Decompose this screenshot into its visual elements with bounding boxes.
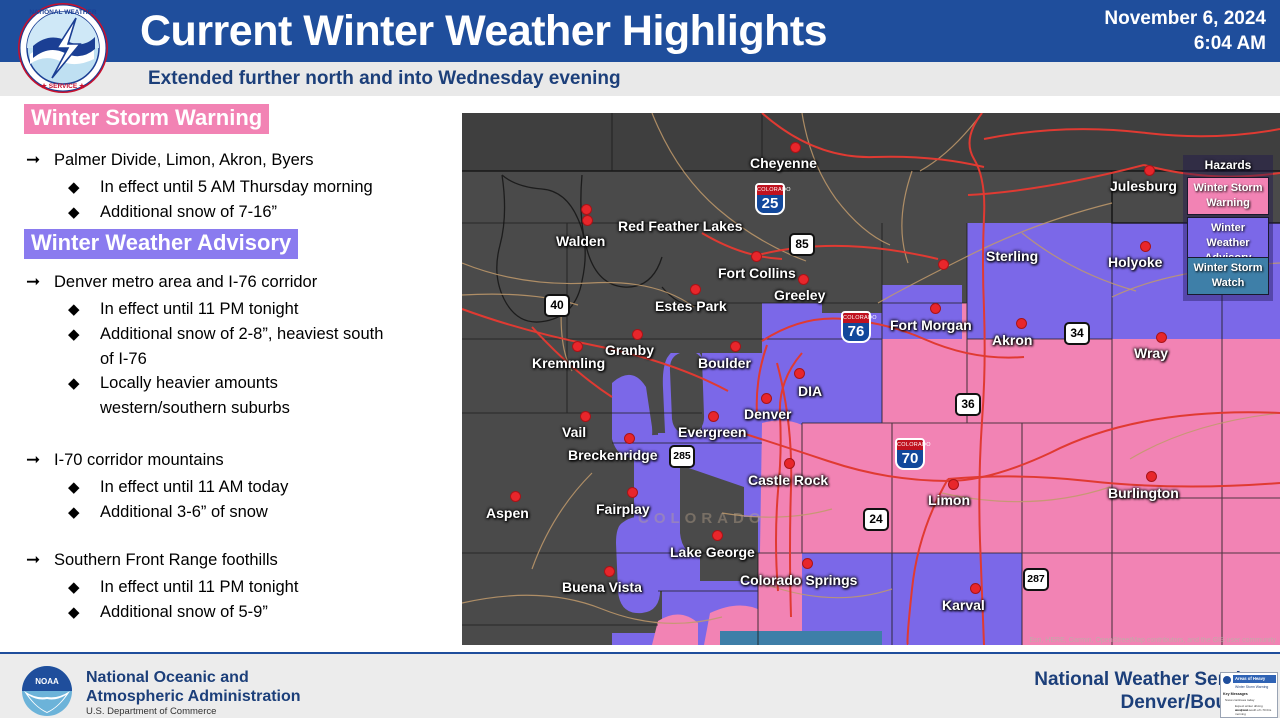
city-label: Greeley xyxy=(774,287,825,303)
detail-item: ◆ In effect until 11 AM today xyxy=(0,475,450,500)
city-label: Sterling xyxy=(986,248,1038,264)
city-label: Castle Rock xyxy=(748,472,828,488)
detail-text: Additional snow of 2-8”, heaviest south … xyxy=(100,325,383,368)
city-label: Buena Vista xyxy=(562,579,642,595)
shield-banner: COLORADO xyxy=(843,313,869,323)
nws-seal-icon: NATIONAL WEATHER ★ SERVICE ★ xyxy=(8,2,118,94)
header-time: 6:04 AM xyxy=(1104,31,1266,56)
city-label: Karval xyxy=(942,597,985,613)
city-label: Limon xyxy=(928,492,970,508)
detail-item: ◆ Additional snow of 2-8”, heaviest sout… xyxy=(0,322,386,372)
map-attribution: Esri, HERE, Garmin, OpenStreetMap contri… xyxy=(1029,637,1276,644)
city-dot xyxy=(582,215,593,226)
thumbnail-title: Areas of Heavy Snow xyxy=(1233,675,1276,683)
thumbnail-line: Snow continues today xyxy=(1225,698,1254,702)
diamond-bullet-icon: ◆ xyxy=(68,500,80,525)
subtitle-text: Extended further north and into Wednesda… xyxy=(148,62,621,96)
heading-winter-storm-warning: Winter Storm Warning xyxy=(24,104,269,134)
city-label: Fort Collins xyxy=(718,265,796,281)
thumbnail-subtitle: Winter Storm Warning xyxy=(1233,684,1276,690)
weather-briefing-slide: Current Winter Weather Highlights Novemb… xyxy=(0,0,1280,718)
area-label: Palmer Divide, Limon, Akron, Byers xyxy=(54,151,314,169)
shield-number: 25 xyxy=(757,195,783,213)
city-label: Walden xyxy=(556,233,605,249)
detail-text: In effect until 11 PM tonight xyxy=(100,578,298,596)
city-label: Breckenridge xyxy=(568,447,657,463)
city-dot xyxy=(627,487,638,498)
diamond-bullet-icon: ◆ xyxy=(68,175,80,200)
area-label: I-70 corridor mountains xyxy=(54,451,224,469)
header-date: November 6, 2024 xyxy=(1104,6,1266,31)
city-label: DIA xyxy=(798,383,822,399)
detail-text: In effect until 11 AM today xyxy=(100,478,288,496)
arrow-bullet-icon: ➞ xyxy=(26,449,40,470)
city-dot xyxy=(510,491,521,502)
arrow-bullet-icon: ➞ xyxy=(26,549,40,570)
thumbnail-line: morning xyxy=(1235,712,1246,716)
detail-text: Additional 3-6” of snow xyxy=(100,503,268,521)
hazard-map[interactable]: COLORADO Cheyenne Red Feather Lakes Wald… xyxy=(462,113,1280,645)
diamond-bullet-icon: ◆ xyxy=(68,297,80,322)
area-item: ➞ Southern Front Range foothills xyxy=(0,550,440,571)
legend-item-winter-storm-watch: Winter Storm Watch xyxy=(1187,257,1269,295)
us-287-shield: 287 xyxy=(1023,568,1049,591)
city-dot xyxy=(938,259,949,270)
city-label: Colorado Springs xyxy=(740,572,857,588)
subtitle-bar: Extended further north and into Wednesda… xyxy=(0,62,1280,96)
area-item: ➞ Denver metro area and I-76 corridor xyxy=(0,272,440,293)
city-label: Aspen xyxy=(486,505,529,521)
diamond-bullet-icon: ◆ xyxy=(68,200,80,225)
svg-text:NATIONAL WEATHER: NATIONAL WEATHER xyxy=(29,9,96,16)
city-label: Burlington xyxy=(1108,485,1179,501)
city-dot xyxy=(751,251,762,262)
city-dot xyxy=(581,204,592,215)
shield-number: 70 xyxy=(897,450,923,468)
city-label: Kremmling xyxy=(532,355,605,371)
area-item: ➞ I-70 corridor mountains xyxy=(0,450,440,471)
city-label: Fort Morgan xyxy=(890,317,972,333)
city-dot xyxy=(1144,165,1155,176)
city-dot xyxy=(948,479,959,490)
city-dot xyxy=(798,274,809,285)
city-dot xyxy=(970,583,981,594)
shield-number: 76 xyxy=(843,323,869,341)
us-34-shield: 34 xyxy=(1064,322,1090,345)
header-datetime: November 6, 2024 6:04 AM xyxy=(1104,6,1266,56)
city-label: Granby xyxy=(605,342,654,358)
city-label: Vail xyxy=(562,424,586,440)
svg-text:COLORADO: COLORADO xyxy=(638,510,766,527)
city-dot xyxy=(1016,318,1027,329)
detail-text: In effect until 11 PM tonight xyxy=(100,300,298,318)
city-dot xyxy=(1140,241,1151,252)
heading-winter-weather-advisory: Winter Weather Advisory xyxy=(24,229,298,259)
city-dot xyxy=(761,393,772,404)
interstate-76-shield: COLORADO 76 xyxy=(841,311,871,343)
interstate-25-shield: COLORADO 25 xyxy=(755,183,785,215)
detail-text: Additional snow of 5-9” xyxy=(100,603,268,621)
city-label: Evergreen xyxy=(678,424,746,440)
detail-item: ◆ Locally heavier amounts western/southe… xyxy=(0,371,400,421)
diamond-bullet-icon: ◆ xyxy=(68,600,80,625)
city-dot xyxy=(790,142,801,153)
map-legend: Hazards Winter Storm Warning Winter Weat… xyxy=(1183,155,1273,301)
city-label: Denver xyxy=(744,406,791,422)
detail-item: ◆ In effect until 5 AM Thursday morning xyxy=(0,175,450,200)
area-item: ➞ Palmer Divide, Limon, Akron, Byers xyxy=(0,150,440,171)
diamond-bullet-icon: ◆ xyxy=(68,322,80,347)
legend-item-winter-storm-warning: Winter Storm Warning xyxy=(1187,177,1269,215)
city-label: Holyoke xyxy=(1108,254,1162,270)
shield-banner: COLORADO xyxy=(897,440,923,450)
detail-text: In effect until 5 AM Thursday morning xyxy=(100,178,373,196)
interstate-70-shield: COLORADO 70 xyxy=(895,438,925,470)
page-title: Current Winter Weather Highlights xyxy=(140,2,960,60)
city-dot xyxy=(712,530,723,541)
noaa-line-2: Atmospheric Administration xyxy=(86,687,301,706)
detail-text: Locally heavier amounts western/southern… xyxy=(100,374,290,417)
city-dot xyxy=(690,284,701,295)
header-bar: Current Winter Weather Highlights Novemb… xyxy=(0,0,1280,62)
city-dot xyxy=(580,411,591,422)
noaa-seal-icon: NOAA xyxy=(18,665,76,717)
city-dot xyxy=(572,341,583,352)
city-label: Boulder xyxy=(698,355,751,371)
city-label: Estes Park xyxy=(655,298,727,314)
svg-text:★ SERVICE ★: ★ SERVICE ★ xyxy=(41,82,86,90)
city-label: Akron xyxy=(992,332,1032,348)
city-dot xyxy=(730,341,741,352)
city-dot xyxy=(624,433,635,444)
thumbnail-body-heading: Key Messages xyxy=(1223,692,1275,696)
area-label: Denver metro area and I-76 corridor xyxy=(54,273,317,291)
city-dot xyxy=(1156,332,1167,343)
city-dot xyxy=(794,368,805,379)
slide-thumbnail[interactable]: Areas of Heavy Snow Winter Storm Warning… xyxy=(1220,672,1278,718)
detail-item: ◆ Additional 3-6” of snow xyxy=(0,500,450,525)
detail-item: ◆ In effect until 11 PM tonight xyxy=(0,297,450,322)
city-dot xyxy=(632,329,643,340)
highlights-panel: Winter Storm Warning ➞ Palmer Divide, Li… xyxy=(0,104,460,650)
noaa-agency-name: National Oceanic and Atmospheric Adminis… xyxy=(86,668,301,706)
city-label: Julesburg xyxy=(1110,178,1177,194)
arrow-bullet-icon: ➞ xyxy=(26,271,40,292)
svg-text:NOAA: NOAA xyxy=(35,677,59,686)
city-label: Lake George xyxy=(670,544,755,560)
city-label: Cheyenne xyxy=(750,155,817,171)
footer-bar: NOAA National Oceanic and Atmospheric Ad… xyxy=(0,652,1280,718)
thumbnail-seal-icon xyxy=(1222,675,1232,685)
us-285-shield: 285 xyxy=(669,445,695,468)
city-dot xyxy=(604,566,615,577)
diamond-bullet-icon: ◆ xyxy=(68,475,80,500)
city-label: Wray xyxy=(1134,345,1168,361)
noaa-line-1: National Oceanic and xyxy=(86,668,301,687)
noaa-dept-line: U.S. Department of Commerce xyxy=(86,706,216,717)
detail-item: ◆ Additional snow of 7-16” xyxy=(0,200,450,225)
us-24-shield: 24 xyxy=(863,508,889,531)
arrow-bullet-icon: ➞ xyxy=(26,149,40,170)
shield-banner: COLORADO xyxy=(757,185,783,195)
city-label: Red Feather Lakes xyxy=(618,218,743,234)
detail-text: Additional snow of 7-16” xyxy=(100,203,277,221)
us-36-shield: 36 xyxy=(955,393,981,416)
detail-item: ◆ In effect until 11 PM tonight xyxy=(0,575,450,600)
legend-title: Hazards xyxy=(1183,158,1273,172)
us-85-shield: 85 xyxy=(789,233,815,256)
city-label: Fairplay xyxy=(596,501,650,517)
city-dot xyxy=(708,411,719,422)
detail-item: ◆ Additional snow of 5-9” xyxy=(0,600,450,625)
city-dot xyxy=(1146,471,1157,482)
area-label: Southern Front Range foothills xyxy=(54,551,278,569)
city-dot xyxy=(784,458,795,469)
city-dot xyxy=(930,303,941,314)
diamond-bullet-icon: ◆ xyxy=(68,371,80,396)
city-dot xyxy=(802,558,813,569)
diamond-bullet-icon: ◆ xyxy=(68,575,80,600)
us-40-shield: 40 xyxy=(544,294,570,317)
